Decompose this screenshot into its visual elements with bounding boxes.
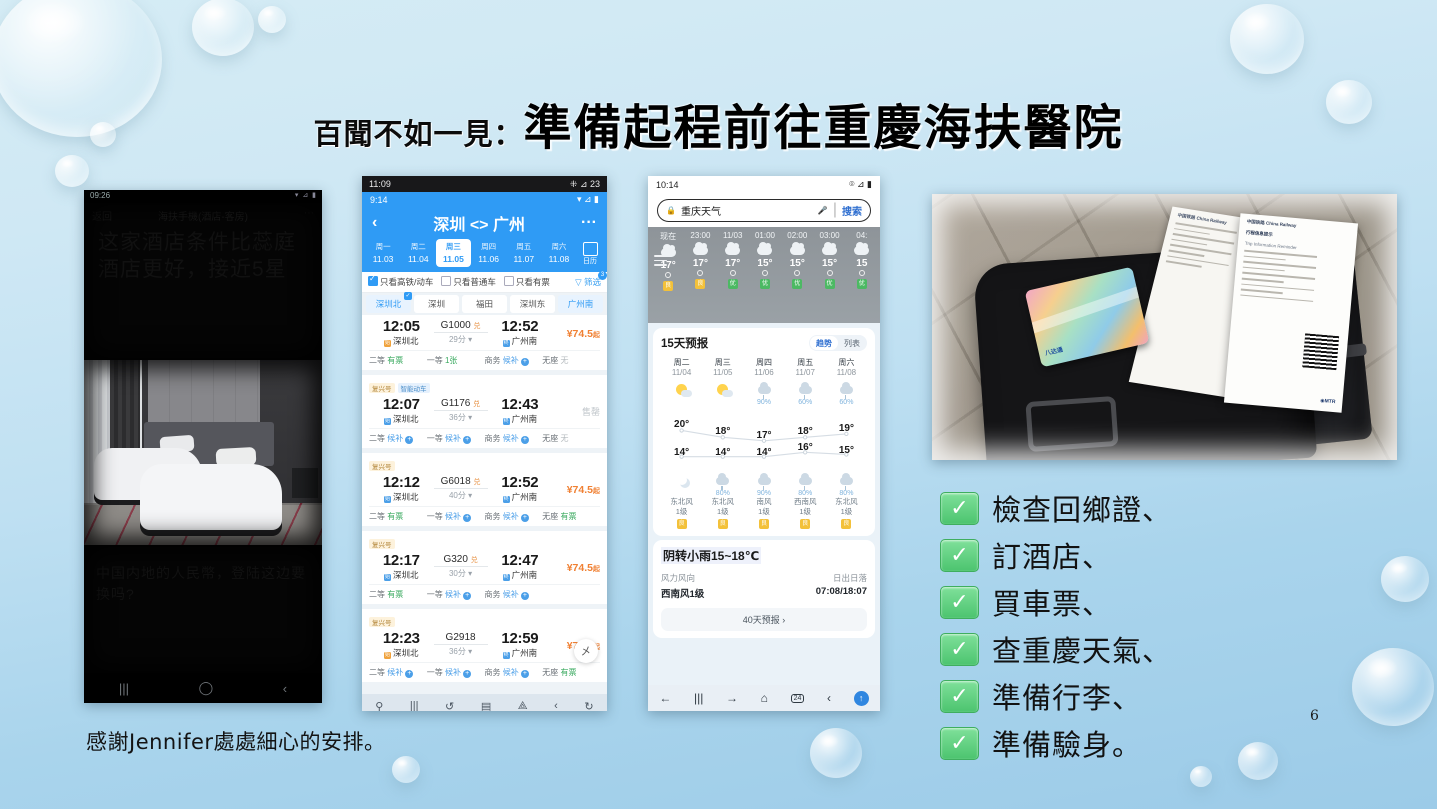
hourly-item: 02:0015°优 (781, 231, 813, 291)
nav-icon[interactable]: ⚲ (375, 700, 383, 712)
depart-station: 始深圳北 (369, 647, 434, 659)
fifteen-day-card: 15天预报 趋势 列表 周二11/04周三11/05周四11/06周五11/07… (653, 328, 875, 536)
seat-availability: 二等 有票一等 候补 +商务 候补 +无座 有票 (369, 506, 600, 522)
arrive-time: 12:59 (488, 630, 553, 647)
menu-icon[interactable] (654, 255, 667, 269)
hour-temp: 15° (781, 258, 813, 269)
bubble-icon (1352, 648, 1434, 726)
date-chip[interactable]: 周二11.04 (401, 239, 435, 267)
back-icon[interactable]: ‹ (372, 214, 377, 232)
wind-level: 1级 (785, 507, 826, 517)
hourly-item: 11/0317°优 (717, 231, 749, 291)
train-type-tag: 复兴号 (369, 383, 395, 393)
forecast-day: 周六11/08 (826, 357, 867, 377)
depart-station: 始深圳北 (369, 569, 434, 581)
wind-level: 1级 (826, 507, 867, 517)
arrive-time: 12:52 (488, 318, 553, 335)
weather-icon-wrap (661, 381, 702, 399)
page-title: 百聞不如一見：準備起程前往重慶海扶醫院 (0, 88, 1437, 158)
sort-filter-button[interactable]: ▽ 筛选3 (575, 276, 601, 288)
train-row[interactable]: 复兴号12:12始深圳北G6018 兑40分 ▾12:52终广州南¥74.5起二… (362, 453, 607, 526)
phone-screenshot-train-booking: 11:09 ⁜ ⊿ 23 9:14 ▾ ⊿ ▮ ‹ 深圳 <> 广州 ··· 周… (362, 176, 607, 711)
lock-icon: 🔒 (666, 206, 676, 215)
nav-icon[interactable]: ▤ (481, 700, 491, 712)
forecast-weekday: 周四 (743, 357, 784, 368)
hour-temp: 15 (846, 258, 878, 269)
hour-time: 23:00 (684, 231, 716, 240)
microphone-icon[interactable]: 🎤 (818, 206, 828, 215)
forecast-day: 周四11/06 (743, 357, 784, 377)
train-duration[interactable]: 36分 ▾ (434, 410, 488, 423)
forecast-day-weather (661, 377, 702, 406)
check-mark: ✓ (950, 497, 968, 519)
air-quality-badge: 良 (663, 281, 673, 291)
train-price: ¥74.5起 (567, 484, 600, 496)
seat-availability: 二等 有票一等 1张商务 候补 +无座 无 (369, 350, 600, 366)
forecast-night-icons: 80%90%80%80% (661, 468, 867, 497)
seat-class[interactable]: 商务 候补 + (485, 589, 543, 600)
seat-availability: 二等 候补 +一等 候补 +商务 候补 +无座 无 (369, 428, 600, 444)
phone2-navigation-bar[interactable]: ⚲|||↺▤⟁‹↻ (362, 694, 607, 711)
calendar-button[interactable]: 日历 (577, 242, 603, 267)
forty-day-forecast-link[interactable]: 40天预报 › (661, 608, 867, 631)
night-rain-probability: 80% (702, 490, 743, 497)
nav-icon[interactable]: → (726, 691, 738, 705)
temp-point (859, 270, 865, 276)
bubble-icon (392, 756, 420, 783)
forecast-day: 周五11/07 (785, 357, 826, 377)
air-quality-badge: 良 (759, 519, 769, 529)
back-nav-icon[interactable]: ‹ (283, 681, 287, 696)
air-quality-badge: 良 (800, 519, 810, 529)
tab-list[interactable]: 列表 (838, 336, 866, 350)
hotel-room-photo (84, 360, 322, 545)
phone1-navigation-bar[interactable]: ||| ◯ ‹ (84, 673, 322, 703)
tab-count-icon[interactable]: 24 (791, 694, 805, 703)
checkbox-icon[interactable] (504, 276, 514, 286)
air-quality-badge: 良 (718, 519, 728, 529)
forecast-days: 周二11/04周三11/05周四11/06周五11/07周六11/08 (661, 357, 867, 377)
checklist-item[interactable]: ✓檢查回鄉證、 (940, 487, 1172, 529)
weather-icon-wrap (826, 472, 867, 490)
checkbox-checked-icon[interactable]: ✓ (940, 586, 979, 619)
page-number: 6 (1310, 708, 1319, 724)
weather-icon-wrap (661, 472, 702, 490)
hourly-forecast[interactable]: 现在17°良23:0017°良11/0317°优01:0015°优02:0015… (648, 227, 880, 323)
date-chip[interactable]: 周五11.07 (507, 239, 541, 267)
wind-level: 1级 (702, 507, 743, 517)
waitlist-icon[interactable]: + (463, 514, 471, 522)
seat-class[interactable]: 商务 候补 + (485, 667, 543, 678)
waitlist-icon[interactable]: + (463, 670, 471, 678)
nav-icon[interactable]: ⟁ (518, 700, 528, 712)
air-quality-badge: 优 (728, 279, 738, 289)
train-duration[interactable]: 29分 ▾ (434, 332, 488, 345)
train-app-titlebar: ‹ 深圳 <> 广州 ··· (362, 207, 607, 239)
checklist-item[interactable]: ✓準備行李、 (940, 675, 1172, 717)
title-main: 準備起程前往重慶海扶醫院 (524, 100, 1124, 156)
rain-cloud-icon (799, 477, 812, 485)
waitlist-icon[interactable]: + (521, 436, 529, 444)
filter-label: 只看高铁/动车 (380, 277, 433, 287)
sun-icon (717, 384, 728, 395)
sold-out-label: 售罄 (582, 407, 600, 417)
seat-class[interactable]: 一等 候补 + (427, 667, 485, 678)
checkbox-checked-icon[interactable]: ✓ (940, 727, 979, 760)
checklist-item[interactable]: ✓買車票、 (940, 581, 1172, 623)
train-number: G2918 (434, 632, 488, 643)
view-toggle[interactable]: 趋势 列表 (809, 335, 867, 351)
station-chips[interactable]: 深圳北✓深圳福田深圳东广州南 (362, 293, 607, 315)
date-weekday: 周一 (366, 241, 400, 253)
weather-icon-wrap (826, 381, 867, 399)
low-temp: 14° (674, 447, 689, 458)
seat-class[interactable]: 二等 候补 + (369, 667, 427, 678)
vignette (84, 545, 322, 673)
nav-icon[interactable]: ← (659, 691, 671, 705)
forecast-weekday: 周六 (826, 357, 867, 368)
nav-icon[interactable]: ‹ (554, 700, 558, 711)
hourly-item: 23:0017°良 (684, 231, 716, 291)
forecast-date: 11/06 (743, 368, 784, 377)
cloud-icon (822, 246, 837, 255)
rain-probability: 60% (826, 399, 867, 406)
price-cell: ¥74.5起 (552, 324, 600, 342)
waitlist-icon[interactable]: + (521, 670, 529, 678)
date-value: 11.07 (507, 253, 541, 265)
air-quality-badge: 良 (695, 279, 705, 289)
arrive-station: 终广州南 (488, 491, 553, 503)
forecast-wind-item: 东北风1级良 (661, 497, 702, 529)
depart-station: 始深圳北 (369, 335, 434, 347)
train-duration[interactable]: 40分 ▾ (434, 488, 488, 501)
title-prefix: 百聞不如一見： (313, 117, 523, 151)
seat-class[interactable]: 一等 1张 (427, 355, 485, 366)
arrive-station: 终广州南 (488, 413, 553, 425)
hour-temp: 15° (749, 258, 781, 269)
seat-class[interactable]: 一等 候补 + (427, 511, 485, 522)
train-price: ¥74.5起 (567, 562, 600, 574)
air-quality-badge: 良 (677, 519, 687, 529)
depart-time: 12:23 (369, 630, 434, 647)
night-rain-probability: 80% (785, 490, 826, 497)
phone1-status-icons: ▾ ⊿ ▮ (295, 191, 317, 199)
price-cell: ¥74.5起 (552, 480, 600, 498)
phone1-status-bar: 09:26 ▾ ⊿ ▮ (84, 190, 322, 203)
checkbox-checked-icon[interactable]: ✓ (940, 539, 979, 572)
date-weekday: 周四 (472, 241, 506, 253)
rain-cloud-icon (758, 386, 771, 394)
scroll-top-button[interactable]: 㐅 (574, 639, 598, 663)
forecast-night-weather: 80% (826, 468, 867, 497)
air-quality-badge: 优 (857, 279, 867, 289)
temp-point (794, 270, 800, 276)
arrive-station: 终广州南 (488, 647, 553, 659)
sunrise-value: 07:08/18:07 (816, 586, 867, 600)
checklist-label: 準備行李、 (992, 675, 1142, 717)
price-cell: ¥74.5起 (552, 558, 600, 576)
temp-point (697, 270, 703, 276)
waitlist-icon[interactable]: + (521, 514, 529, 522)
hourly-item: 04:15优 (846, 231, 878, 291)
search-button[interactable]: 搜索 (842, 203, 862, 218)
hour-time: 03:00 (813, 231, 845, 240)
forecast-weekday: 周三 (702, 357, 743, 368)
bubble-icon (1230, 4, 1304, 74)
wind-direction: 西南风 (785, 497, 826, 507)
forecast-day-icons: 90%60%60% (661, 377, 867, 406)
train-row[interactable]: 复兴号12:23始深圳北G2918 36分 ▾12:59终广州南¥74.5起二等… (362, 609, 607, 682)
seat-class[interactable]: 无座 无 (542, 433, 600, 444)
vignette (84, 360, 322, 545)
wind-direction: 东北风 (826, 497, 867, 507)
wind-direction: 南风 (743, 497, 784, 507)
waitlist-icon[interactable]: + (463, 436, 471, 444)
bubble-icon (258, 6, 286, 33)
forecast-night-weather: 90% (743, 468, 784, 497)
bubble-icon (192, 0, 254, 56)
train-app-status-icons: ▾ ⊿ ▮ (577, 194, 599, 205)
seat-class[interactable]: 一等 候补 + (427, 433, 485, 444)
check-mark: ✓ (950, 544, 968, 566)
date-value: 11.04 (401, 253, 435, 265)
date-weekday: 周二 (401, 241, 435, 253)
filter-row[interactable]: 只看高铁/动车只看普通车只看有票▽ 筛选3 (362, 272, 607, 293)
depart-time: 12:17 (369, 552, 434, 569)
seat-class[interactable]: 二等 有票 (369, 355, 427, 366)
seat-class[interactable]: 一等 候补 + (427, 589, 485, 600)
phone3-status-bar: 10:14 ⌾ ⊿ ▮ (648, 176, 880, 193)
temp-point (762, 270, 768, 276)
forecast-day-weather (702, 377, 743, 406)
station-chip[interactable]: 福田 (462, 295, 507, 313)
forecast-date: 11/08 (826, 368, 867, 377)
wind-level: 1级 (661, 507, 702, 517)
arrive-station: 终广州南 (488, 569, 553, 581)
check-mark: ✓ (950, 685, 968, 707)
temp-point (665, 272, 671, 278)
preparation-checklist: ✓檢查回鄉證、✓訂酒店、✓買車票、✓查重慶天氣、✓準備行李、✓準備驗身。 (940, 487, 1172, 769)
rain-probability: 60% (785, 399, 826, 406)
forecast-weekday: 周二 (661, 357, 702, 368)
checkbox-checked-icon[interactable]: ✓ (940, 633, 979, 666)
station-chip[interactable]: 深圳 (414, 295, 459, 313)
forecast-day-weather: 60% (785, 377, 826, 406)
weather-icon-wrap (702, 381, 743, 399)
train-number: G320 兑 (434, 554, 488, 565)
detail-labels: 风力风向 日出日落 (661, 572, 867, 584)
date-chip[interactable]: 周三11.05 (436, 239, 470, 267)
waitlist-icon[interactable]: + (405, 436, 413, 444)
weather-summary: 阴转小雨15~18℃ (661, 547, 761, 564)
date-value: 11.05 (436, 253, 470, 265)
arrive-time: 12:47 (488, 552, 553, 569)
forecast-night-weather: 80% (785, 468, 826, 497)
forecast-card-header: 15天预报 趋势 列表 (661, 335, 867, 351)
wind-value: 西南风1级 (661, 586, 704, 600)
filter-checkbox[interactable]: 只看高铁/动车 (368, 276, 433, 288)
phone3-clock: 10:14 (656, 180, 679, 190)
checkbox-checked-icon[interactable]: ✓ (940, 492, 979, 525)
search-input[interactable]: 🔒 重庆天气 🎤 | 搜索 (657, 199, 871, 222)
search-bar-container[interactable]: 🔒 重庆天气 🎤 | 搜索 (648, 193, 880, 227)
date-weekday: 周三 (436, 241, 470, 253)
checklist-item[interactable]: ✓查重慶天氣、 (940, 628, 1172, 670)
train-feature-tag: 智能动车 (398, 383, 430, 393)
date-value: 11.06 (472, 253, 506, 265)
scroll-up-icon[interactable]: ↑ (854, 691, 869, 706)
night-rain-probability: 80% (826, 490, 867, 497)
train-row[interactable]: 12:05始深圳北G1000 兑29分 ▾12:52终广州南¥74.5起二等 有… (362, 315, 607, 370)
wind-direction: 东北风 (702, 497, 743, 507)
high-temp: 20° (674, 419, 689, 430)
seat-class[interactable]: 无座 无 (542, 355, 600, 366)
hour-temp: 15° (813, 258, 845, 269)
filter-checkbox[interactable]: 只看普通车 (441, 276, 496, 288)
train-duration[interactable]: 30分 ▾ (434, 566, 488, 579)
high-temp: 17° (756, 430, 771, 441)
checkbox-checked-icon[interactable]: ✓ (940, 680, 979, 713)
night-rain-probability: 90% (743, 490, 784, 497)
tab-trend[interactable]: 趋势 (810, 336, 838, 350)
train-app-clock: 9:14 (370, 195, 388, 205)
date-chip[interactable]: 周一11.03 (366, 239, 400, 267)
check-mark: ✓ (950, 638, 968, 660)
phone3-navigation-bar[interactable]: ←|||→⌂24‹↑ (648, 685, 880, 711)
depart-time: 12:07 (369, 396, 434, 413)
forecast-weekday: 周五 (785, 357, 826, 368)
phone2-clock: 11:09 (369, 179, 391, 189)
checklist-item[interactable]: ✓訂酒店、 (940, 534, 1172, 576)
phone-screenshot-hotel: 09:26 ▾ ⊿ ▮ 返回 海扶手機(酒店-客房) ⋯ 这家酒店条件比蕊庭酒店… (84, 190, 322, 703)
forecast-day-weather: 60% (826, 377, 867, 406)
cloud-icon (757, 246, 772, 255)
bubble-icon (1190, 766, 1212, 787)
seat-class[interactable]: 商务 候补 + (485, 433, 543, 444)
filter-count-badge: 3 (598, 271, 607, 280)
waitlist-icon[interactable]: + (463, 592, 471, 600)
weather-icon-wrap (743, 381, 784, 399)
date-weekday: 周六 (542, 241, 576, 253)
temperature-chart: 20°18°17°18°19° 14°14°14°16°15° (661, 408, 867, 468)
depart-time: 12:05 (369, 318, 434, 335)
train-number: G1000 兑 (434, 320, 488, 331)
hour-time: 04: (846, 231, 878, 240)
low-temp: 15° (839, 445, 854, 456)
seat-class[interactable]: 商务 候补 + (485, 355, 543, 366)
seat-class[interactable]: 无座 有票 (542, 511, 600, 522)
seat-class[interactable]: 二等 候补 + (369, 433, 427, 444)
seat-class[interactable]: 无座 有票 (542, 667, 600, 678)
checkbox-icon[interactable] (368, 276, 378, 286)
nav-icon[interactable]: ↺ (445, 700, 454, 712)
checklist-label: 買車票、 (992, 581, 1112, 623)
nav-icon[interactable]: ⌂ (761, 691, 768, 705)
date-weekday: 周五 (507, 241, 541, 253)
moon-icon (677, 475, 687, 485)
wind-level: 1级 (743, 507, 784, 517)
low-temp: 16° (798, 442, 813, 453)
hourly-item: 01:0015°优 (749, 231, 781, 291)
nav-icon[interactable]: ‹ (827, 691, 831, 705)
hour-time: 02:00 (781, 231, 813, 240)
train-app-header: 9:14 ▾ ⊿ ▮ ‹ 深圳 <> 广州 ··· 周一11.03周二11.04… (362, 192, 607, 272)
checklist-label: 檢查回鄉證、 (992, 487, 1172, 529)
train-number: G1176 兑 (434, 398, 488, 409)
date-chip[interactable]: 周六11.08 (542, 239, 576, 267)
cloud-icon (790, 246, 805, 255)
train-row[interactable]: 复兴号12:17始深圳北G320 兑30分 ▾12:47终广州南¥74.5起二等… (362, 531, 607, 604)
hour-time: 11/03 (717, 231, 749, 240)
low-temp: 14° (715, 447, 730, 458)
check-icon: ✓ (404, 292, 412, 300)
temp-point (827, 270, 833, 276)
slide-caption: 感謝Jennifer處處細心的安排。 (86, 726, 386, 756)
rain-cloud-icon (840, 477, 853, 485)
date-chip[interactable]: 周四11.06 (472, 239, 506, 267)
station-chip[interactable]: 广州南 (558, 295, 603, 313)
air-quality-badge: 良 (841, 519, 851, 529)
station-chip[interactable]: 深圳东 (510, 295, 555, 313)
bubble-icon (55, 155, 89, 187)
train-row[interactable]: 复兴号智能动车12:07始深圳北G1176 兑36分 ▾12:43终广州南售罄二… (362, 375, 607, 448)
rain-cloud-icon (758, 477, 771, 485)
cloud-icon (693, 246, 708, 255)
low-temp: 14° (756, 447, 771, 458)
hour-temp: 17° (684, 258, 716, 269)
train-duration[interactable]: 36分 ▾ (434, 644, 488, 657)
phone2-system-bar: 11:09 ⁜ ⊿ 23 (362, 176, 607, 192)
phone1-clock: 09:26 (90, 191, 110, 200)
forecast-day: 周三11/05 (702, 357, 743, 377)
train-price: ¥74.5起 (567, 328, 600, 340)
more-icon[interactable]: ··· (581, 214, 597, 232)
date-selector[interactable]: 周一11.03周二11.04周三11.05周四11.06周五11.07周六11.… (362, 239, 607, 272)
high-temp: 18° (798, 426, 813, 437)
forecast-date: 11/07 (785, 368, 826, 377)
rain-cloud-icon (716, 477, 729, 485)
summary-card: 阴转小雨15~18℃ 风力风向 日出日落 西南风1级 07:08/18:07 4… (653, 540, 875, 638)
station-chip[interactable]: 深圳北✓ (366, 295, 411, 313)
recents-icon[interactable]: ||| (119, 681, 129, 696)
seat-class[interactable]: 二等 有票 (369, 589, 427, 600)
filter-checkbox[interactable]: 只看有票 (504, 276, 550, 288)
forecast-day: 周二11/04 (661, 357, 702, 377)
seat-class[interactable]: 商务 候补 + (485, 511, 543, 522)
date-value: 11.03 (366, 253, 400, 265)
checkbox-icon[interactable] (441, 276, 451, 286)
home-icon[interactable]: ◯ (199, 680, 214, 696)
arrive-time: 12:43 (488, 396, 553, 413)
checklist-item[interactable]: ✓準備驗身。 (940, 722, 1172, 764)
weather-icon-wrap (702, 472, 743, 490)
train-list[interactable]: 12:05始深圳北G1000 兑29分 ▾12:52终广州南¥74.5起二等 有… (362, 315, 607, 694)
divider: | (833, 201, 837, 219)
nav-icon[interactable]: ||| (410, 700, 419, 711)
nav-icon[interactable]: ↻ (584, 700, 593, 712)
calendar-icon (583, 242, 598, 256)
vignette (84, 203, 322, 360)
air-quality-badge: 优 (825, 279, 835, 289)
waitlist-icon[interactable]: + (521, 592, 529, 600)
waitlist-icon[interactable]: + (405, 670, 413, 678)
high-temp: 19° (839, 423, 854, 434)
forecast-title: 15天预报 (661, 335, 708, 351)
nav-icon[interactable]: ||| (694, 691, 703, 705)
seat-class[interactable]: 二等 有票 (369, 511, 427, 522)
price-cell: 售罄 (552, 402, 600, 420)
waitlist-icon[interactable]: + (521, 358, 529, 366)
